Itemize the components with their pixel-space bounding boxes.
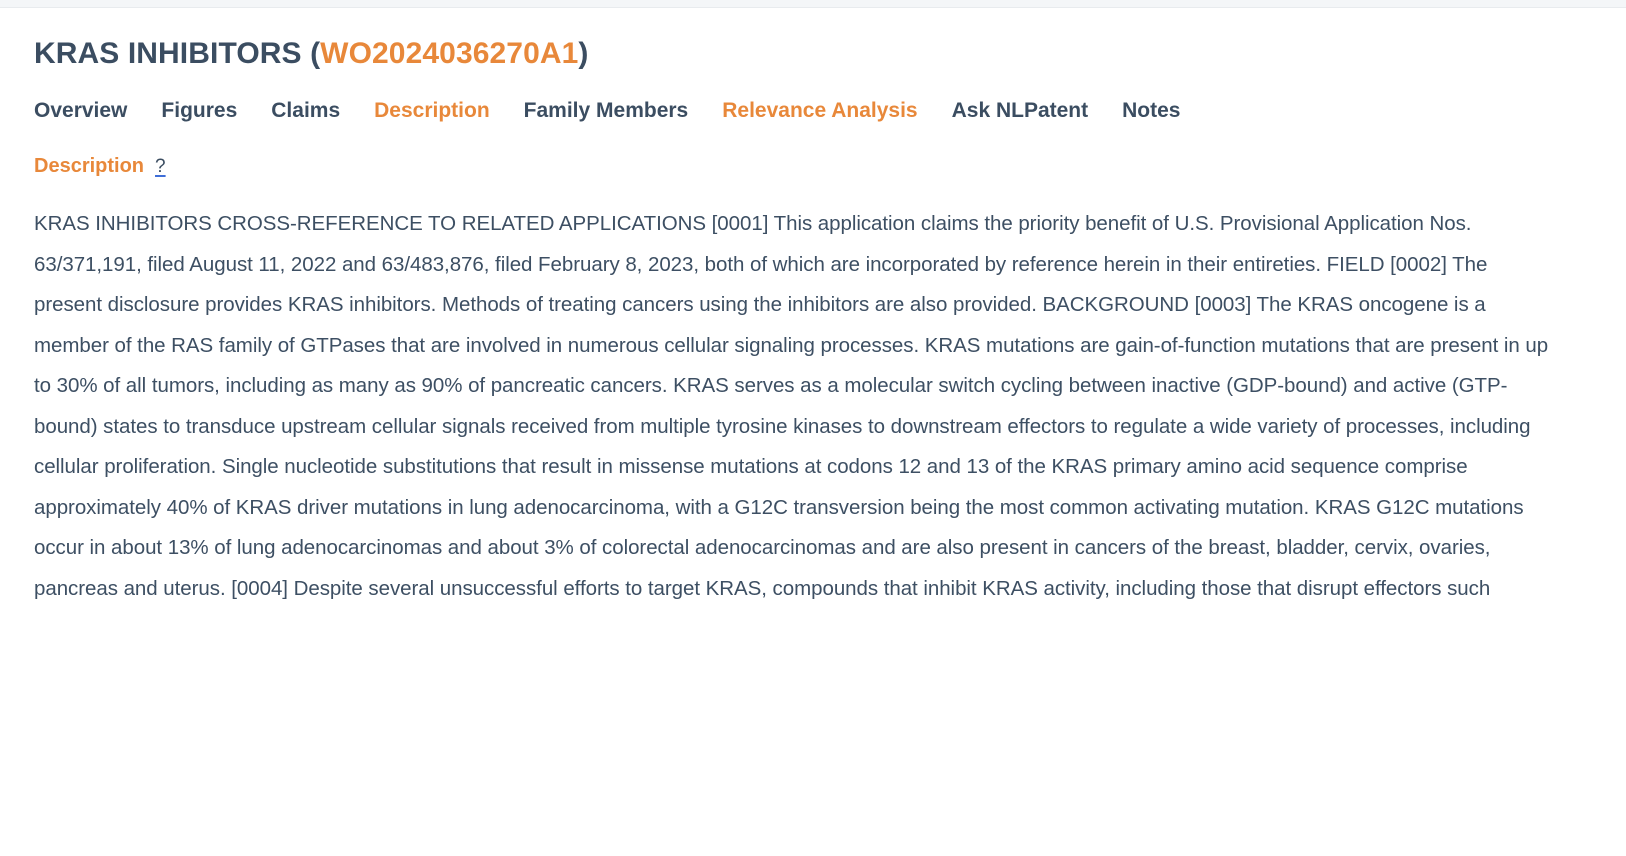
tab-notes[interactable]: Notes xyxy=(1105,98,1197,124)
tab-claims[interactable]: Claims xyxy=(254,98,357,124)
tab-relevance-analysis[interactable]: Relevance Analysis xyxy=(705,98,934,124)
page-title: KRAS INHIBITORS (WO2024036270A1) xyxy=(34,8,1592,72)
help-icon[interactable]: ? xyxy=(155,156,166,178)
page-title-paren-close: ) xyxy=(578,37,588,70)
tab-description[interactable]: Description xyxy=(357,98,507,124)
top-edge-strip xyxy=(0,0,1626,8)
description-text-body: KRAS INHIBITORS CROSS-REFERENCE TO RELAT… xyxy=(34,204,1554,609)
tab-family-members[interactable]: Family Members xyxy=(507,98,706,124)
patent-detail-page: KRAS INHIBITORS (WO2024036270A1) Overvie… xyxy=(0,8,1626,609)
tab-ask-nlpatent[interactable]: Ask NLPatent xyxy=(935,98,1106,124)
section-title: Description xyxy=(34,154,144,178)
description-section-header: Description ? xyxy=(34,154,1592,178)
publication-number-link[interactable]: WO2024036270A1 xyxy=(320,37,578,70)
patent-tab-bar: Overview Figures Claims Description Fami… xyxy=(34,98,1592,124)
tab-overview[interactable]: Overview xyxy=(34,98,144,124)
tab-figures[interactable]: Figures xyxy=(144,98,254,124)
page-title-text: KRAS INHIBITORS ( xyxy=(34,37,320,70)
